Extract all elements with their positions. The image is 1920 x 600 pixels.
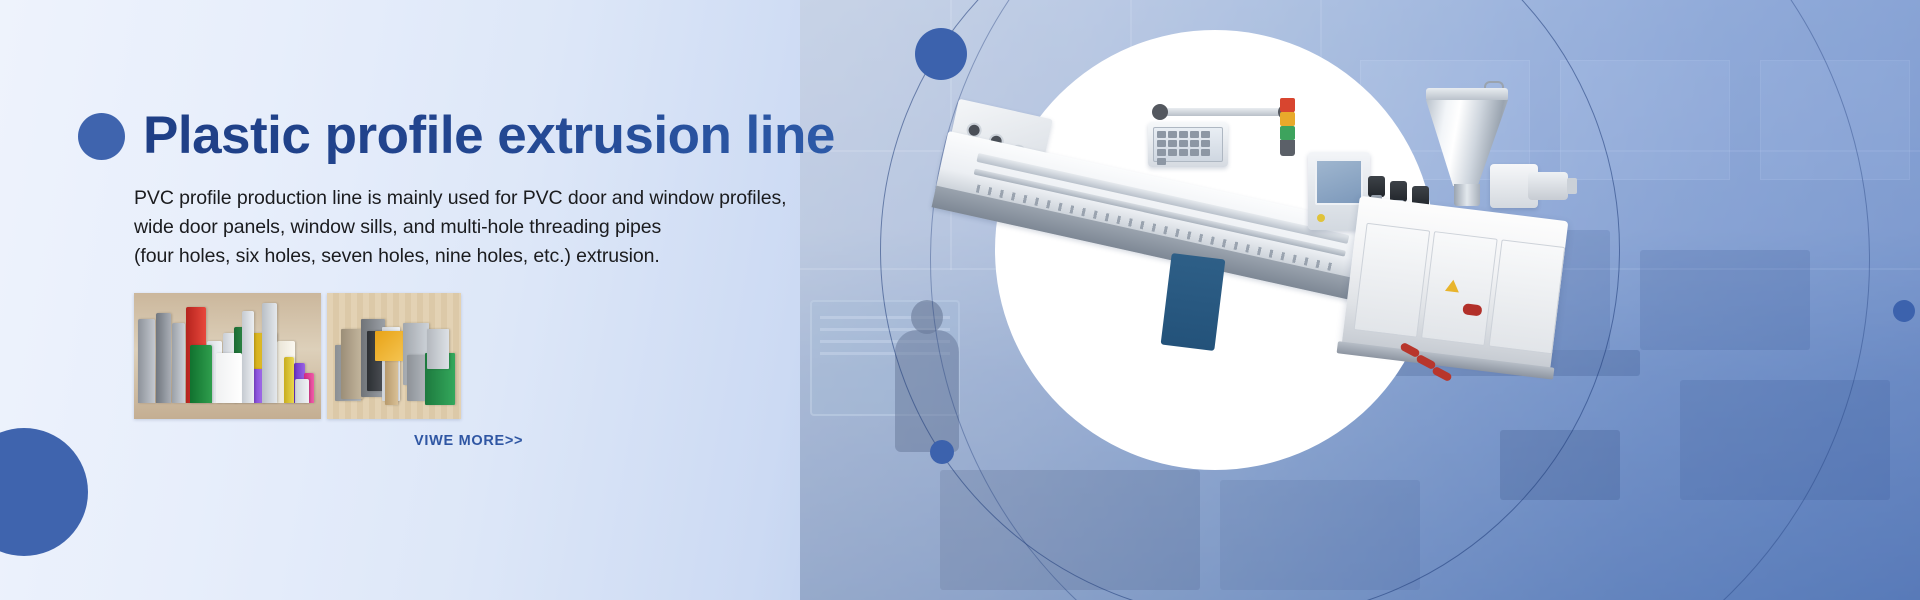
signal-tower-light-icon (1280, 98, 1295, 156)
decorative-dot-bottom-left (0, 428, 88, 556)
arm-joint-left-icon (1152, 104, 1168, 120)
description-line-2: wide door panels, window sills, and mult… (134, 213, 738, 242)
page-title: Plastic profile extrusion line (143, 108, 835, 164)
grey-green-pvc-profiles-thumbnail[interactable] (327, 293, 461, 419)
hmi-support-arm (1158, 108, 1292, 116)
description-line-3: (four holes, six holes, seven holes, nin… (134, 242, 738, 271)
circle-bullet-icon (78, 113, 125, 160)
colored-pvc-profiles-thumbnail[interactable] (134, 293, 321, 419)
banner-content: Plastic profile extrusion line PVC profi… (78, 108, 738, 450)
operator-keypad-panel (1148, 122, 1228, 167)
drive-motor (1528, 172, 1568, 200)
hero-banner: Plastic profile extrusion line PVC profi… (0, 0, 1920, 600)
pvc-extrusion-line-machine-photo (930, 60, 1550, 460)
extruder-cabinet (1342, 196, 1569, 370)
banner-description: PVC profile production line is mainly us… (134, 184, 738, 271)
decorative-dot-right-edge (1893, 300, 1915, 322)
headline-row: Plastic profile extrusion line (78, 108, 738, 164)
thumbnail-gallery (134, 293, 738, 419)
view-more-link[interactable]: VIWE MORE>> (414, 433, 523, 449)
description-line-1: PVC profile production line is mainly us… (134, 184, 738, 213)
blue-access-panel (1161, 253, 1226, 351)
